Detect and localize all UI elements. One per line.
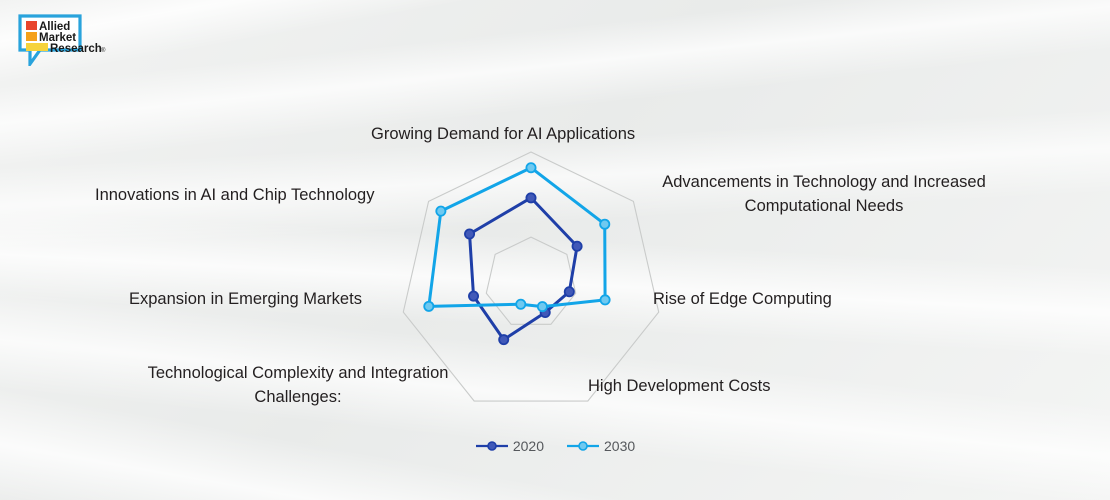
radar-chart: [0, 0, 1110, 500]
radar-point-2020-5[interactable]: [469, 292, 478, 301]
legend-marker-2020-icon: [475, 439, 509, 453]
legend-item-2030[interactable]: 2030: [566, 438, 635, 454]
radar-point-2030-4[interactable]: [516, 300, 525, 309]
radar-point-2030-0[interactable]: [526, 163, 535, 172]
radar-point-2020-4[interactable]: [499, 335, 508, 344]
radar-point-2030-3[interactable]: [538, 302, 547, 311]
legend-label-2030: 2030: [604, 438, 635, 454]
radar-point-2020-2[interactable]: [565, 287, 574, 296]
axis-label-innovations-in-ai-and-chip-technology: Innovations in AI and Chip Technology: [95, 184, 374, 208]
axis-label-technological-complexity: Technological Complexity and Integration…: [113, 362, 483, 410]
radar-series-2030: [424, 163, 609, 311]
axis-label-high-development-costs: High Development Costs: [588, 375, 771, 399]
axis-label-rise-of-edge-computing: Rise of Edge Computing: [653, 288, 832, 312]
radar-point-2030-5[interactable]: [424, 302, 433, 311]
radar-point-2020-1[interactable]: [572, 242, 581, 251]
axis-label-growing-demand-for-ai-applications: Growing Demand for AI Applications: [371, 123, 635, 147]
radar-point-2030-2[interactable]: [600, 295, 609, 304]
legend-item-2020[interactable]: 2020: [475, 438, 544, 454]
radar-point-2020-6[interactable]: [465, 229, 474, 238]
chart-page: Allied Market Research ® Growing Demand …: [0, 0, 1110, 500]
legend-label-2020: 2020: [513, 438, 544, 454]
radar-point-2030-1[interactable]: [600, 220, 609, 229]
chart-legend: 2020 2030: [0, 438, 1110, 454]
radar-point-2020-0[interactable]: [526, 193, 535, 202]
axis-label-advancements-in-technology: Advancements in Technology and Increased…: [626, 171, 1022, 219]
axis-label-expansion-in-emerging-markets: Expansion in Emerging Markets: [129, 288, 362, 312]
radar-series-2020: [465, 193, 582, 344]
radar-grid-ring-0: [486, 237, 575, 324]
radar-line-2020: [470, 198, 578, 340]
radar-point-2030-6[interactable]: [436, 207, 445, 216]
legend-marker-2030-icon: [566, 439, 600, 453]
